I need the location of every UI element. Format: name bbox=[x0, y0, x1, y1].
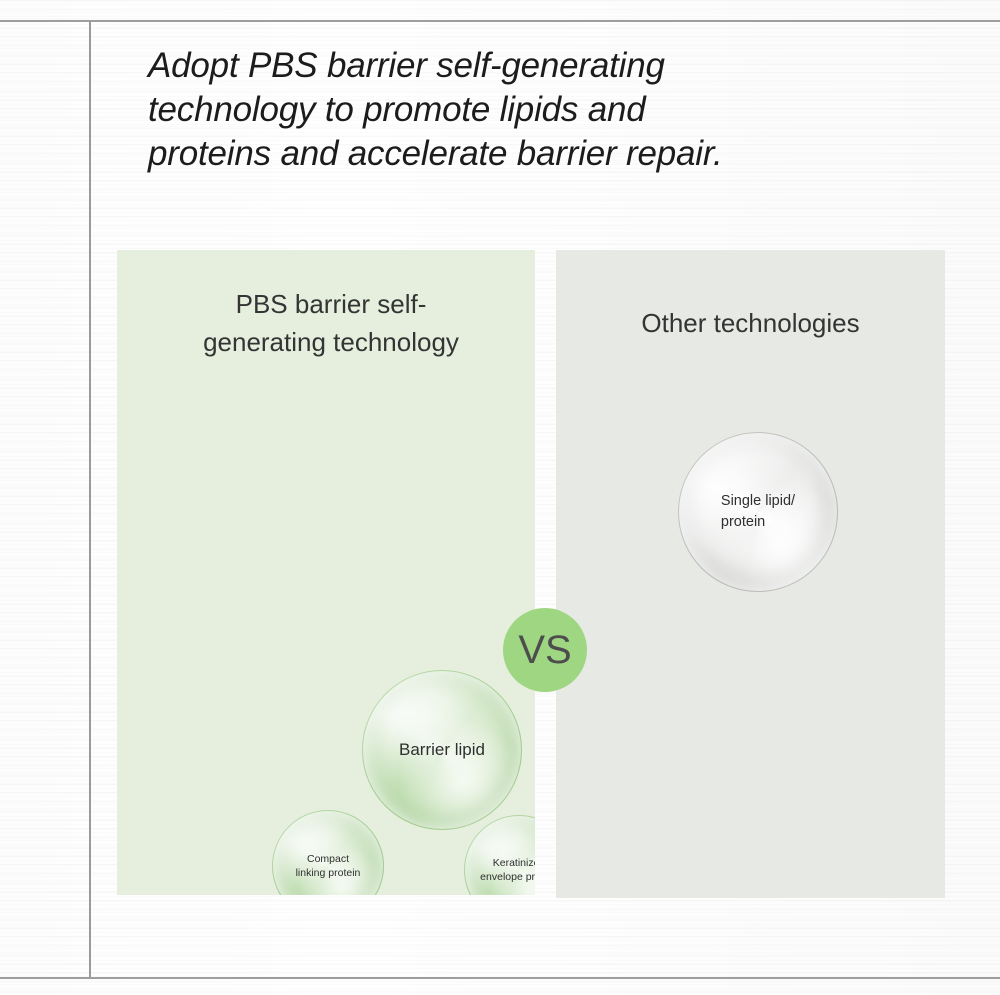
frame-rule-vertical bbox=[89, 21, 91, 978]
droplet-keratinized-envelope-protein: Keratinized envelope protein bbox=[464, 815, 535, 895]
vs-badge-label: VS bbox=[518, 628, 571, 673]
frame-rule-bottom bbox=[0, 977, 1000, 979]
droplet-single-lipid-protein-label: Single lipid/ protein bbox=[721, 491, 795, 533]
droplet-compact-linking-protein-label: Compact linking protein bbox=[296, 852, 361, 880]
droplet-barrier-lipid-label: Barrier lipid bbox=[399, 740, 485, 760]
vs-badge: VS bbox=[503, 608, 587, 692]
panel-left-title: PBS barrier self- generating technology bbox=[161, 285, 501, 361]
frame-rule-top bbox=[0, 20, 1000, 22]
droplet-barrier-lipid: Barrier lipid bbox=[362, 670, 522, 830]
droplet-compact-linking-protein: Compact linking protein bbox=[272, 810, 384, 895]
droplet-keratinized-envelope-protein-label: Keratinized envelope protein bbox=[480, 856, 535, 884]
page-title: Adopt PBS barrier self-generating techno… bbox=[148, 44, 908, 176]
panel-right-title: Other technologies bbox=[556, 304, 945, 342]
droplet-single-lipid-protein: Single lipid/ protein bbox=[678, 432, 838, 592]
panel-pbs-technology: PBS barrier self- generating technology … bbox=[117, 250, 535, 895]
panel-other-technologies: Other technologies Single lipid/ protein bbox=[556, 250, 945, 898]
